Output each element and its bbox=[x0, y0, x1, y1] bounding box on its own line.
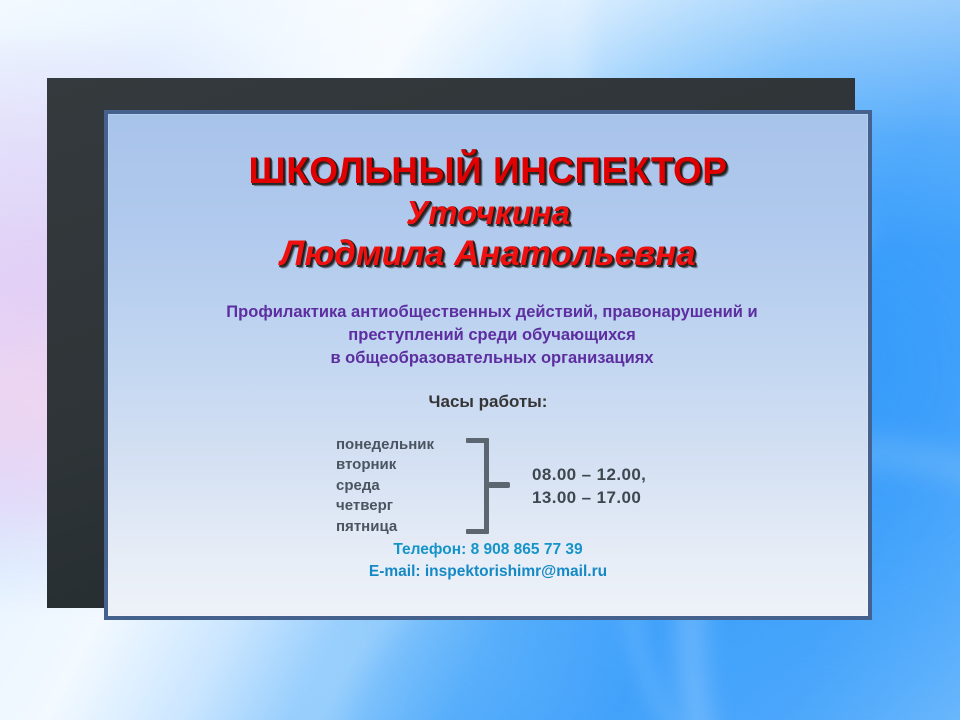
phone-number: Телефон: 8 908 865 77 39 bbox=[108, 539, 868, 561]
contact-block: Телефон: 8 908 865 77 39 E-mail: inspekt… bbox=[108, 539, 868, 584]
working-hours-label: Часы работы: bbox=[108, 392, 868, 412]
presentation-slide: ШКОЛЬНЫЙ ИНСПЕКТОР Уточкина Людмила Анат… bbox=[0, 0, 960, 720]
curly-brace-icon bbox=[462, 434, 514, 538]
subtitle-line-1: Профилактика антиобщественных действий, … bbox=[146, 301, 838, 324]
list-item: среда bbox=[336, 476, 456, 496]
brace-arm-bottom bbox=[466, 529, 488, 534]
schedule-block: понедельник вторник среда четверг пятниц… bbox=[336, 434, 646, 538]
page-title: ШКОЛЬНЫЙ ИНСПЕКТОР bbox=[108, 152, 868, 191]
working-hours-value: 08.00 – 12.00, 13.00 – 17.00 bbox=[532, 463, 646, 509]
content-panel: ШКОЛЬНЫЙ ИНСПЕКТОР Уточкина Людмила Анат… bbox=[104, 110, 872, 620]
list-item: вторник bbox=[336, 455, 456, 475]
inspector-fullname: Людмила Анатольевна bbox=[108, 234, 868, 273]
subtitle-block: Профилактика антиобщественных действий, … bbox=[146, 301, 838, 369]
list-item: пятница bbox=[336, 517, 456, 537]
inspector-surname: Уточкина bbox=[108, 195, 868, 232]
list-item: понедельник bbox=[336, 435, 456, 455]
weekday-list: понедельник вторник среда четверг пятниц… bbox=[336, 435, 456, 537]
subtitle-line-3: в общеобразовательных организациях bbox=[146, 347, 838, 370]
brace-nub bbox=[488, 482, 510, 488]
subtitle-line-2: преступлений среди обучающихся bbox=[146, 324, 838, 347]
list-item: четверг bbox=[336, 496, 456, 516]
email-address: E-mail: inspektorishimr@mail.ru bbox=[108, 561, 868, 583]
title-block: ШКОЛЬНЫЙ ИНСПЕКТОР Уточкина Людмила Анат… bbox=[108, 152, 868, 273]
